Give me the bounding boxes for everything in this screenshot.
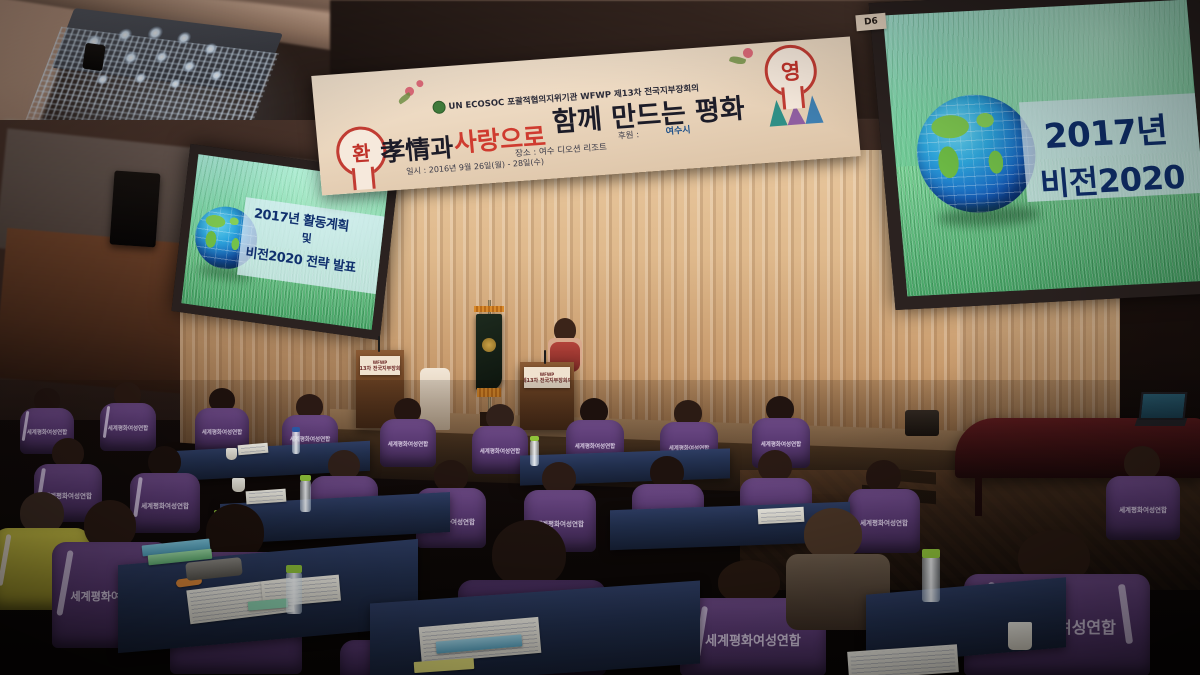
vest-label: 세계평화여성연합: [752, 440, 810, 448]
flag-fringe-top: [474, 306, 504, 312]
slide-line-2: 및: [301, 229, 312, 246]
vest-label: 세계평화여성연합: [195, 428, 249, 436]
bottle-cap: [300, 475, 311, 481]
vest-label: 세계평화여성연합: [472, 447, 528, 455]
slide-right-line-2: 비전2020: [1038, 152, 1187, 205]
bottle-cap: [922, 549, 940, 558]
conference-hall-photo: 2017년 활동계획 및 비전2020 전략 발표 2017년 비전2020: [0, 0, 1200, 675]
paper-lines: [249, 491, 284, 502]
ceiling-projector: [82, 43, 105, 72]
paper-lines: [850, 646, 955, 675]
bottle-cap: [530, 436, 539, 441]
vest-piping: [103, 406, 110, 438]
vest-label: 세계평화여성연합: [566, 442, 624, 450]
audience-member: 세계평화여성연합: [1098, 446, 1200, 542]
seal-left-ribbon: [352, 167, 376, 191]
wall-speaker-icon: [109, 170, 160, 247]
vest-label: 세계평화여성연합: [20, 428, 74, 436]
document-paper: [246, 489, 287, 505]
vest-label: 세계평화여성연합: [100, 424, 156, 432]
banner-leaf-decoration: [397, 92, 412, 105]
paper-lines: [241, 445, 265, 453]
vest-piping: [22, 411, 30, 441]
podium-left-sign-title: 제13차 전국지부장회의: [360, 365, 400, 372]
vest-label: 세계평화여성연합: [1106, 504, 1180, 514]
vest-label: 세계평화여성연합: [680, 630, 826, 649]
vest-piping: [0, 534, 11, 586]
head: [492, 520, 566, 588]
water-bottle: [922, 556, 940, 602]
podium-left-sign: WFWP 제13차 전국지부장회의: [360, 356, 400, 375]
banner-flower-decoration: [416, 80, 424, 87]
microphone-left: [378, 336, 380, 352]
banner-flower-decoration: [743, 48, 754, 59]
un-ecosoc-logo-icon: [432, 100, 446, 114]
projection-screen-right: 2017년 비전2020: [869, 0, 1200, 310]
vest-piping: [56, 550, 73, 616]
vest-label: 세계평화여성연합: [380, 440, 436, 448]
seal-right-char: 영: [780, 55, 802, 86]
paper-cup: [226, 448, 237, 460]
vest-label: 세계평화여성연합: [282, 435, 338, 443]
seal-right-ribbon: [781, 86, 805, 110]
banner-mountain-decoration: [803, 95, 823, 124]
head-with-light-hair: [804, 508, 862, 560]
water-bottle: [286, 572, 302, 614]
bottle-cap: [286, 565, 302, 573]
seal-left-char: 환: [351, 136, 372, 166]
banner-sponsor-label: 후원 :: [617, 128, 639, 142]
microphone-center: [544, 350, 546, 364]
paper-cup: [1008, 622, 1032, 650]
banner-sponsor-name: 여수시: [665, 122, 691, 137]
slide-content-right: 2017년 비전2020: [883, 0, 1200, 296]
flag-cloth: [476, 314, 502, 390]
water-bottle: [292, 430, 300, 454]
wall-marker-d6: D6: [855, 13, 886, 32]
flag-emblem-icon: [482, 338, 496, 352]
bottle-cap: [292, 427, 300, 432]
slide-right-line-1: 2017년: [1042, 103, 1170, 158]
head: [1124, 446, 1160, 480]
paper-cup: [232, 478, 245, 492]
